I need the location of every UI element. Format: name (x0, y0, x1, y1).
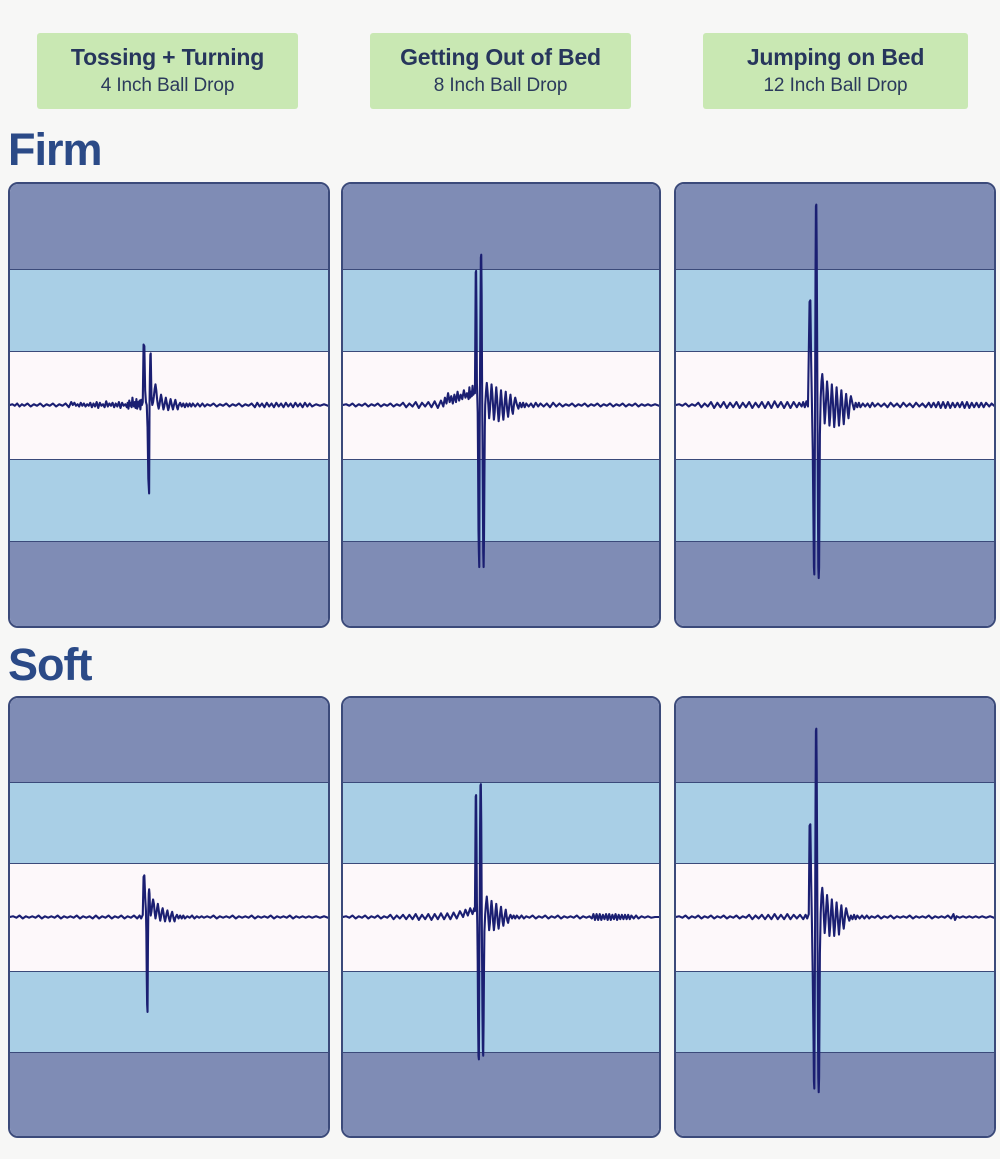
seismograph-waveform (676, 184, 994, 626)
waveform-trace (10, 345, 328, 494)
section-heading-soft: Soft (8, 642, 91, 687)
waveform-trace (343, 255, 659, 567)
seismograph-panel (8, 696, 330, 1138)
seismograph-waveform (676, 698, 994, 1136)
column-header-badge-2: Getting Out of Bed 8 Inch Ball Drop (370, 33, 631, 109)
seismograph-panel (8, 182, 330, 628)
column-subtitle-3: 12 Inch Ball Drop (763, 75, 907, 96)
seismograph-waveform (343, 698, 659, 1136)
waveform-trace (676, 205, 994, 578)
column-title-2: Getting Out of Bed (400, 45, 601, 71)
waveform-trace (343, 784, 659, 1059)
column-header-badge-1: Tossing + Turning 4 Inch Ball Drop (37, 33, 298, 109)
column-subtitle-2: 8 Inch Ball Drop (434, 75, 568, 96)
panel-row-firm (0, 182, 1000, 628)
column-subtitle-1: 4 Inch Ball Drop (101, 75, 235, 96)
column-header-badge-3: Jumping on Bed 12 Inch Ball Drop (703, 33, 968, 109)
seismograph-panel (341, 182, 661, 628)
column-title-1: Tossing + Turning (71, 45, 264, 71)
column-title-3: Jumping on Bed (747, 45, 924, 71)
waveform-trace (10, 875, 328, 1012)
seismograph-waveform (10, 184, 328, 626)
seismograph-waveform (343, 184, 659, 626)
column-header-row: Tossing + Turning 4 Inch Ball Drop Getti… (0, 0, 1000, 115)
waveform-trace (676, 729, 994, 1093)
panel-row-soft (0, 696, 1000, 1138)
seismograph-panel (674, 696, 996, 1138)
seismograph-waveform (10, 698, 328, 1136)
seismograph-infographic: Tossing + Turning 4 Inch Ball Drop Getti… (0, 0, 1000, 1159)
seismograph-panel (341, 696, 661, 1138)
seismograph-panel (674, 182, 996, 628)
section-heading-firm: Firm (8, 127, 102, 172)
